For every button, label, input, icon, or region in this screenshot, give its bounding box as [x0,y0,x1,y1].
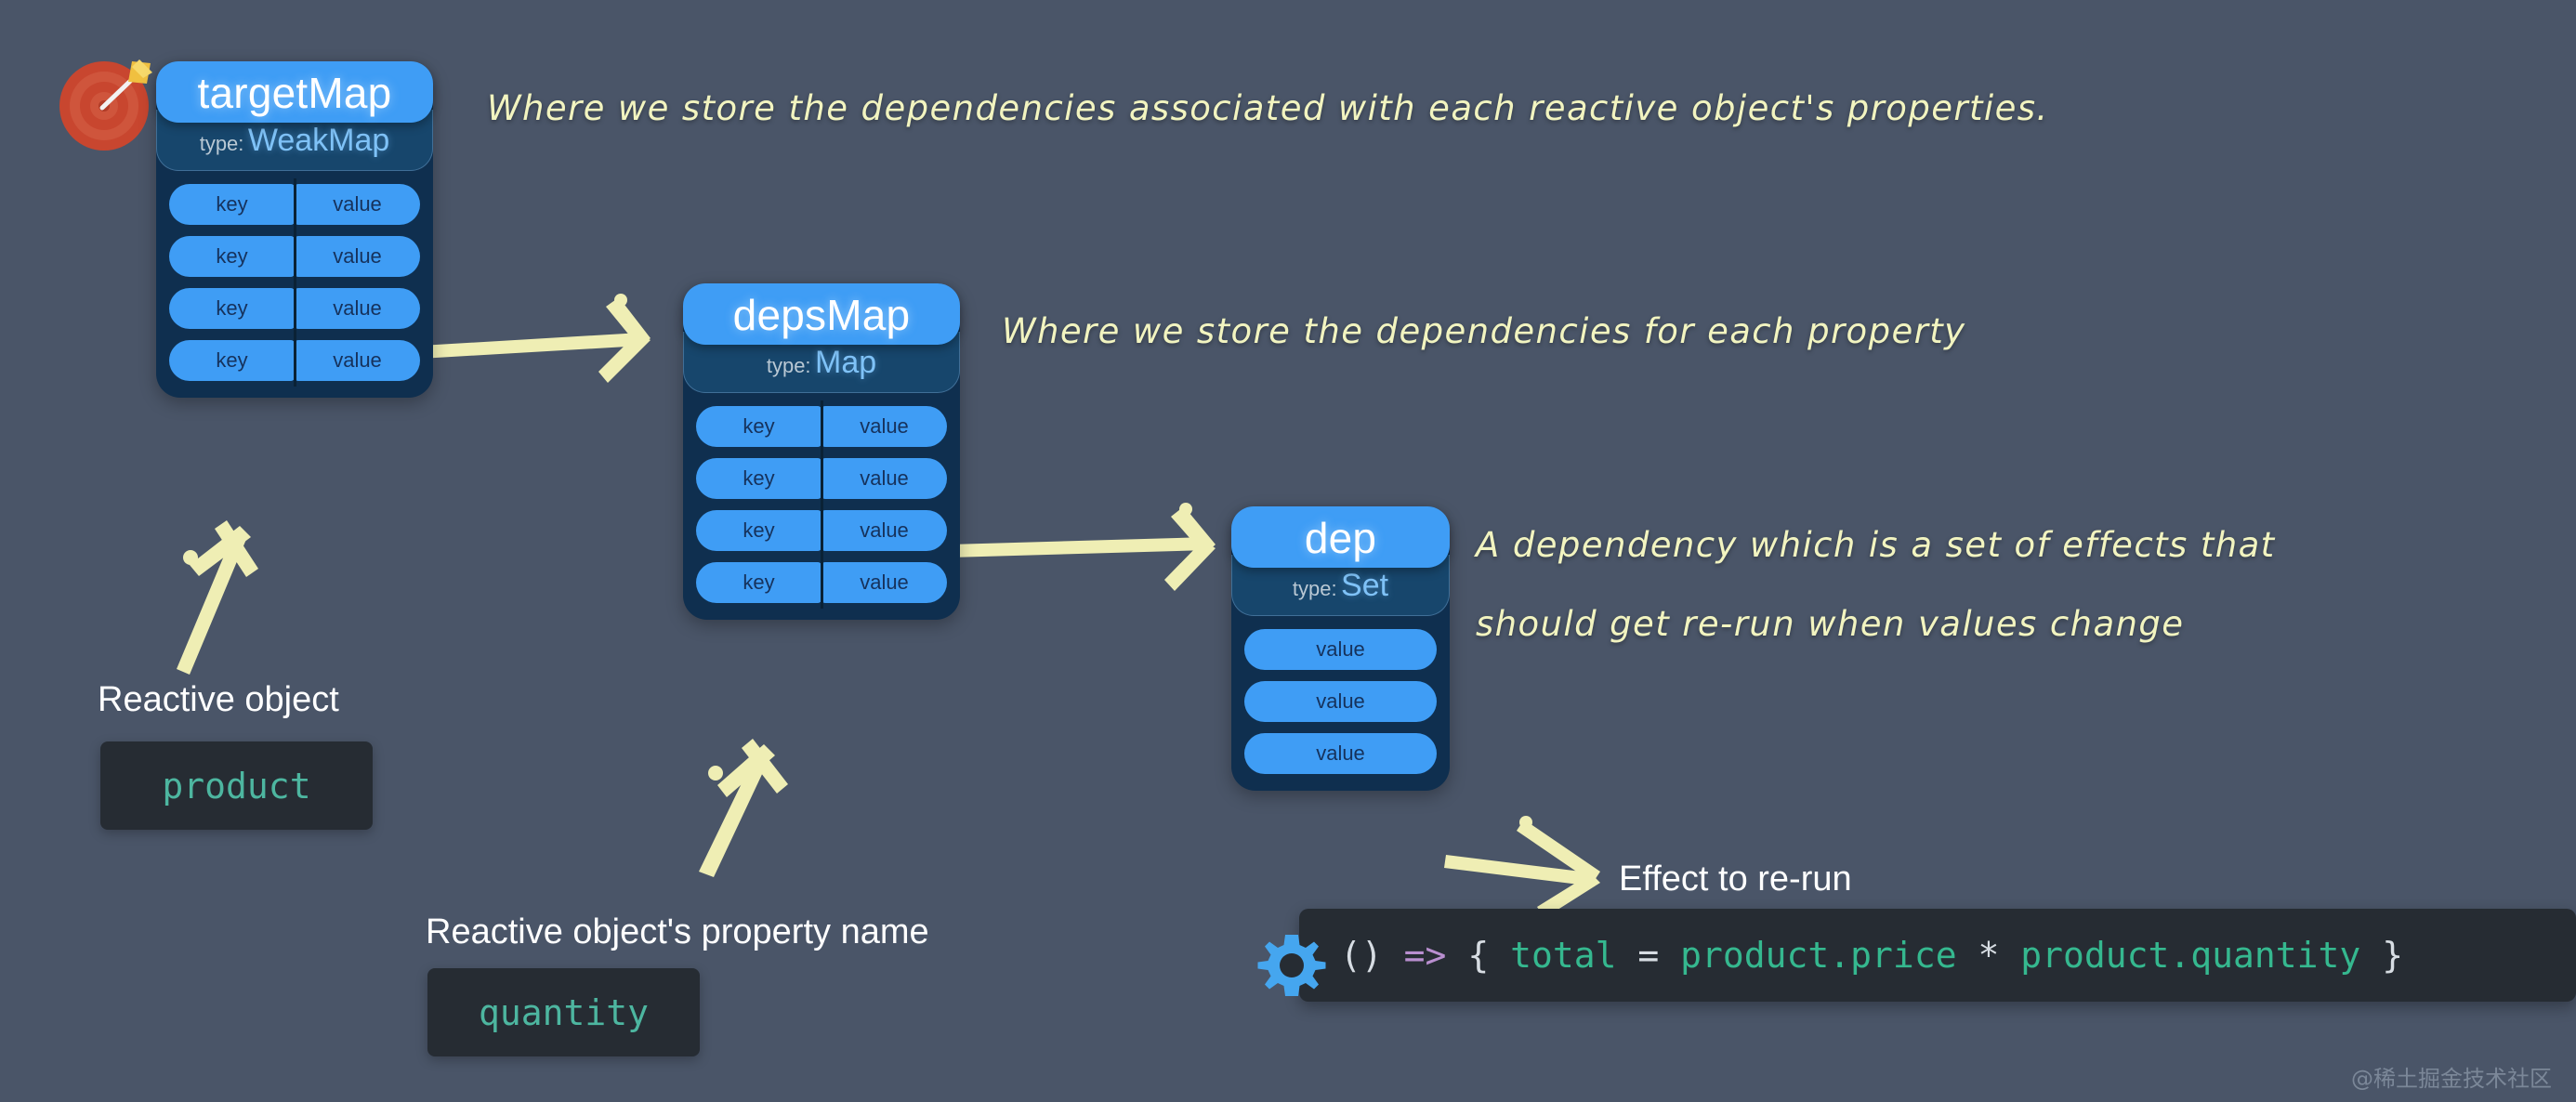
arrow-property-name-to-depsmap [699,739,788,877]
table-row: key value [696,458,947,499]
caption-reactive-object: Reactive object [98,680,339,720]
arrow-dep-to-effect [1444,816,1600,918]
row-key: key [169,340,295,381]
depsmap-title: depsMap [683,293,960,337]
table-row: key value [696,510,947,551]
row-divider [821,400,823,453]
row-divider [294,178,296,230]
dep-type-value: Set [1341,568,1388,603]
list-item: value [1244,681,1437,722]
code-open-brace: { [1467,935,1489,976]
caption-effect: Effect to re-run [1619,859,1852,899]
table-row: key value [696,562,947,603]
row-key: key [696,458,821,499]
dep-type-label: type: [1293,577,1337,600]
code-equals: = [1637,935,1659,976]
effect-code-bar: () => { total = product.price * product.… [1299,909,2576,1002]
targetmap-box: targetMap type: WeakMap key value key va… [156,61,433,398]
row-divider [821,505,823,557]
note-targetmap: Where we store the dependencies associat… [487,84,2049,134]
code-arrow: => [1404,935,1447,976]
table-row: key value [169,340,420,381]
depsmap-type-value: Map [815,345,876,380]
row-key: key [696,406,821,447]
arrow-targetmap-to-depsmap [420,294,651,383]
watermark: @稀土掘金技术社区 [2351,1060,2552,1093]
list-item: value [1244,629,1437,670]
row-divider [294,230,296,282]
row-key: key [169,288,295,329]
row-divider [294,335,296,387]
row-divider [294,282,296,335]
row-value: value [295,236,420,277]
depsmap-rows: key value key value key value key value [683,393,960,620]
code-parens: () [1340,935,1383,976]
chip-quantity-text: quantity [479,992,649,1033]
targetmap-title: targetMap [156,71,433,115]
arrow-reactive-object-to-targetmap [177,520,258,675]
list-item: value [1244,733,1437,774]
gear-icon [1256,931,1327,1002]
arrow-depsmap-to-dep [950,503,1216,591]
target-dart-icon [54,50,158,154]
row-divider [821,557,823,609]
depsmap-box: depsMap type: Map key value key value ke… [683,283,960,620]
row-key: key [169,236,295,277]
dep-title: dep [1231,516,1450,560]
depsmap-header: depsMap [683,283,960,345]
row-value: value [295,288,420,329]
dep-box: dep type: Set value value value [1231,506,1450,791]
table-row: key value [169,236,420,277]
targetmap-rows: key value key value key value key value [156,171,433,398]
note-dep-line2: should get re-run when values change [1476,599,2184,649]
row-value: value [821,562,947,603]
caption-property-name: Reactive object's property name [426,912,929,952]
chip-product-text: product [162,766,310,807]
note-dep-line1: A dependency which is a set of effects t… [1476,520,2276,571]
chip-product: product [100,741,373,830]
targetmap-header: targetMap [156,61,433,123]
table-row: key value [696,406,947,447]
targetmap-type-label: type: [200,132,244,155]
note-depsmap: Where we store the dependencies for each… [1002,307,1965,357]
code-total: total [1510,935,1616,976]
row-value: value [295,184,420,225]
table-row: key value [169,288,420,329]
code-right-operand: product.quantity [2020,935,2360,976]
code-left-operand: product.price [1680,935,1956,976]
targetmap-type-value: WeakMap [248,123,389,158]
chip-quantity: quantity [427,968,700,1056]
dep-rows: value value value [1231,616,1450,791]
row-value: value [821,510,947,551]
table-row: key value [169,184,420,225]
code-operator: * [1978,935,1999,976]
row-value: value [295,340,420,381]
row-key: key [696,562,821,603]
code-close-brace: } [2382,935,2403,976]
depsmap-type-label: type: [767,354,811,377]
row-value: value [821,458,947,499]
dep-header: dep [1231,506,1450,568]
row-divider [821,453,823,505]
diagram-canvas: targetMap type: WeakMap key value key va… [0,0,2576,1102]
row-key: key [696,510,821,551]
row-value: value [821,406,947,447]
row-key: key [169,184,295,225]
